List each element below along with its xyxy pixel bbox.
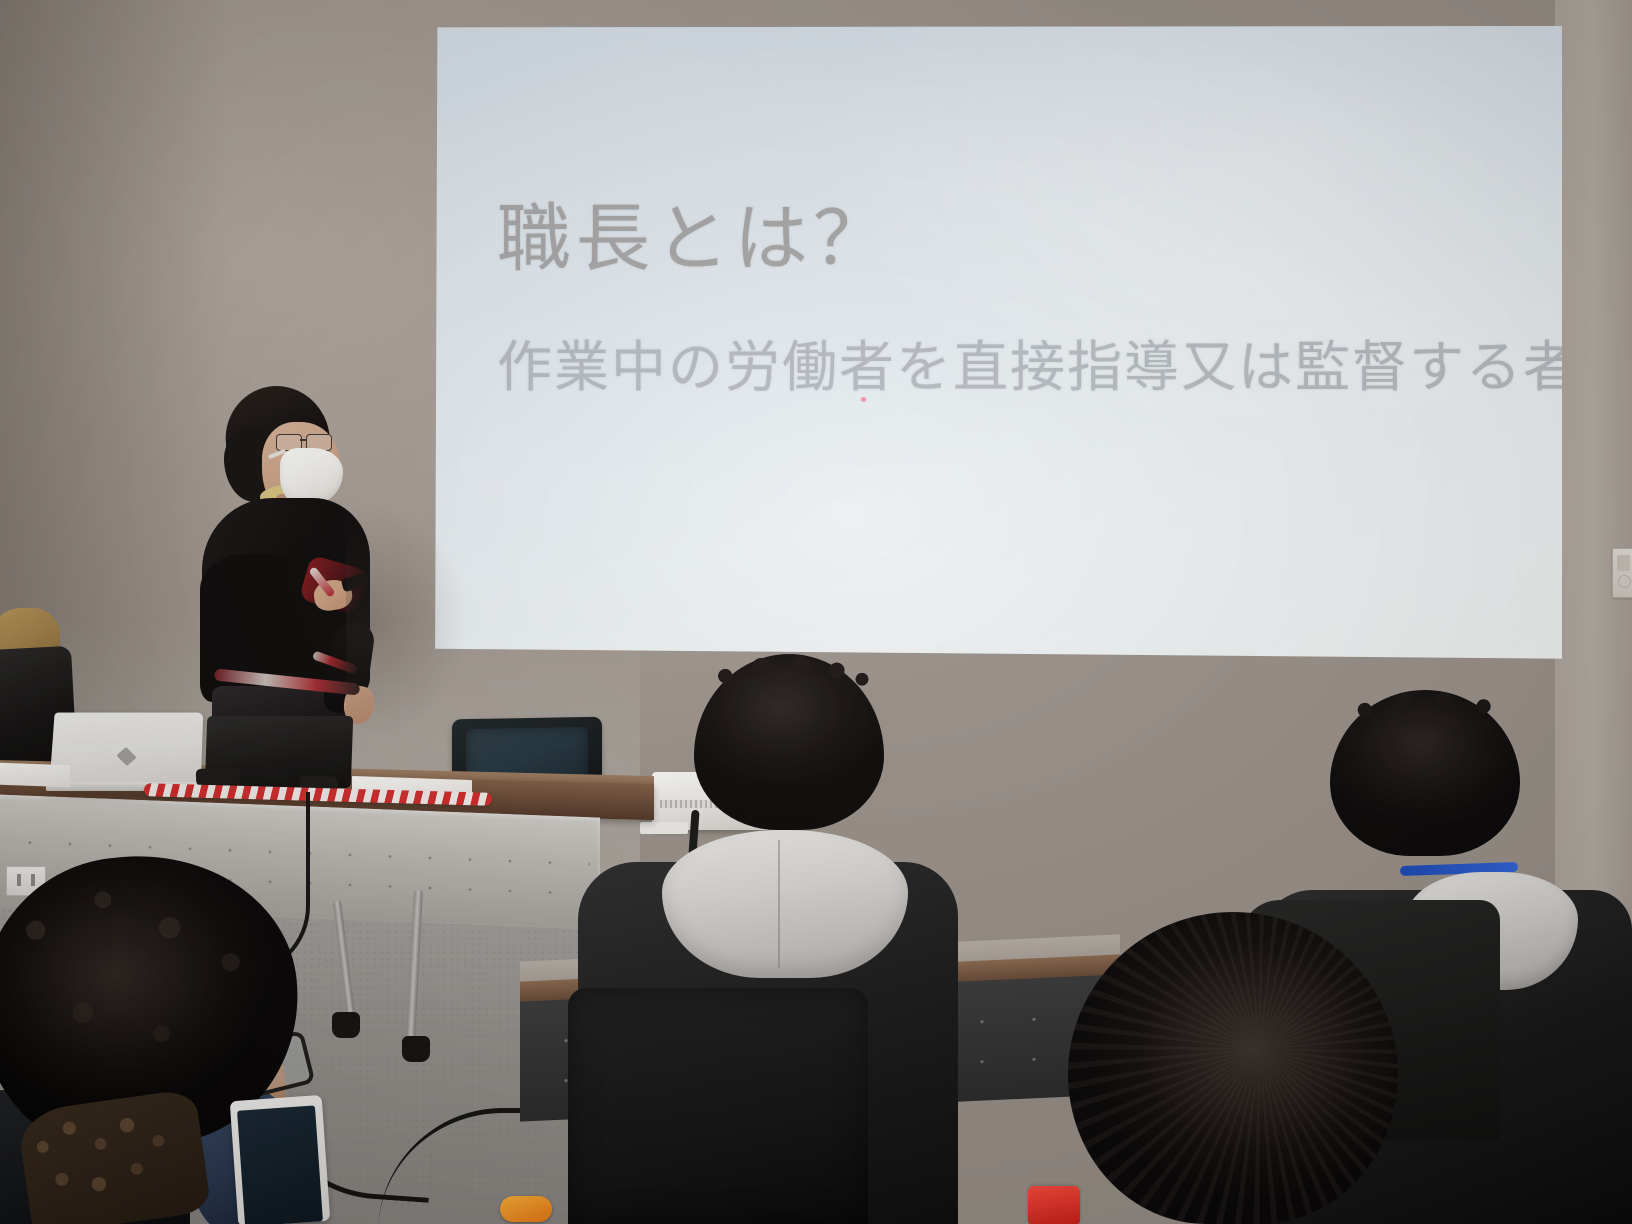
projector-foot — [640, 822, 688, 834]
presenter-standing — [196, 386, 386, 736]
attendee-bottom-center-hair-texture — [1068, 912, 1398, 1224]
classroom-photo-scene: 職長とは？ 作業中の労働者を直接指導又は監督する者 — [0, 0, 1632, 1224]
paper-stack-left — [0, 763, 70, 787]
attendee-center-hood — [662, 830, 908, 978]
light-switch-icon[interactable] — [1612, 548, 1632, 598]
cable-clamp — [196, 767, 241, 786]
orange-object-on-floor — [500, 1196, 552, 1222]
attendee-right-hair-tufts — [1336, 684, 1516, 720]
projection-screen: 職長とは？ 作業中の労働者を直接指導又は監督する者 — [434, 26, 1562, 692]
laser-pointer-dot — [860, 397, 867, 402]
attendee-center-hair-tufts — [700, 648, 880, 688]
tablet-screen[interactable] — [237, 1105, 323, 1224]
face-mask-icon — [280, 448, 343, 504]
right-wall-return — [1555, 0, 1632, 1010]
slide-title: 職長とは？ — [497, 200, 892, 280]
red-cup — [1028, 1186, 1080, 1224]
slide-subtitle: 作業中の労働者を直接指導又は監督する者 — [497, 337, 1562, 398]
attendee-center-chair[interactable] — [568, 988, 868, 1224]
hood-seam — [778, 840, 780, 968]
